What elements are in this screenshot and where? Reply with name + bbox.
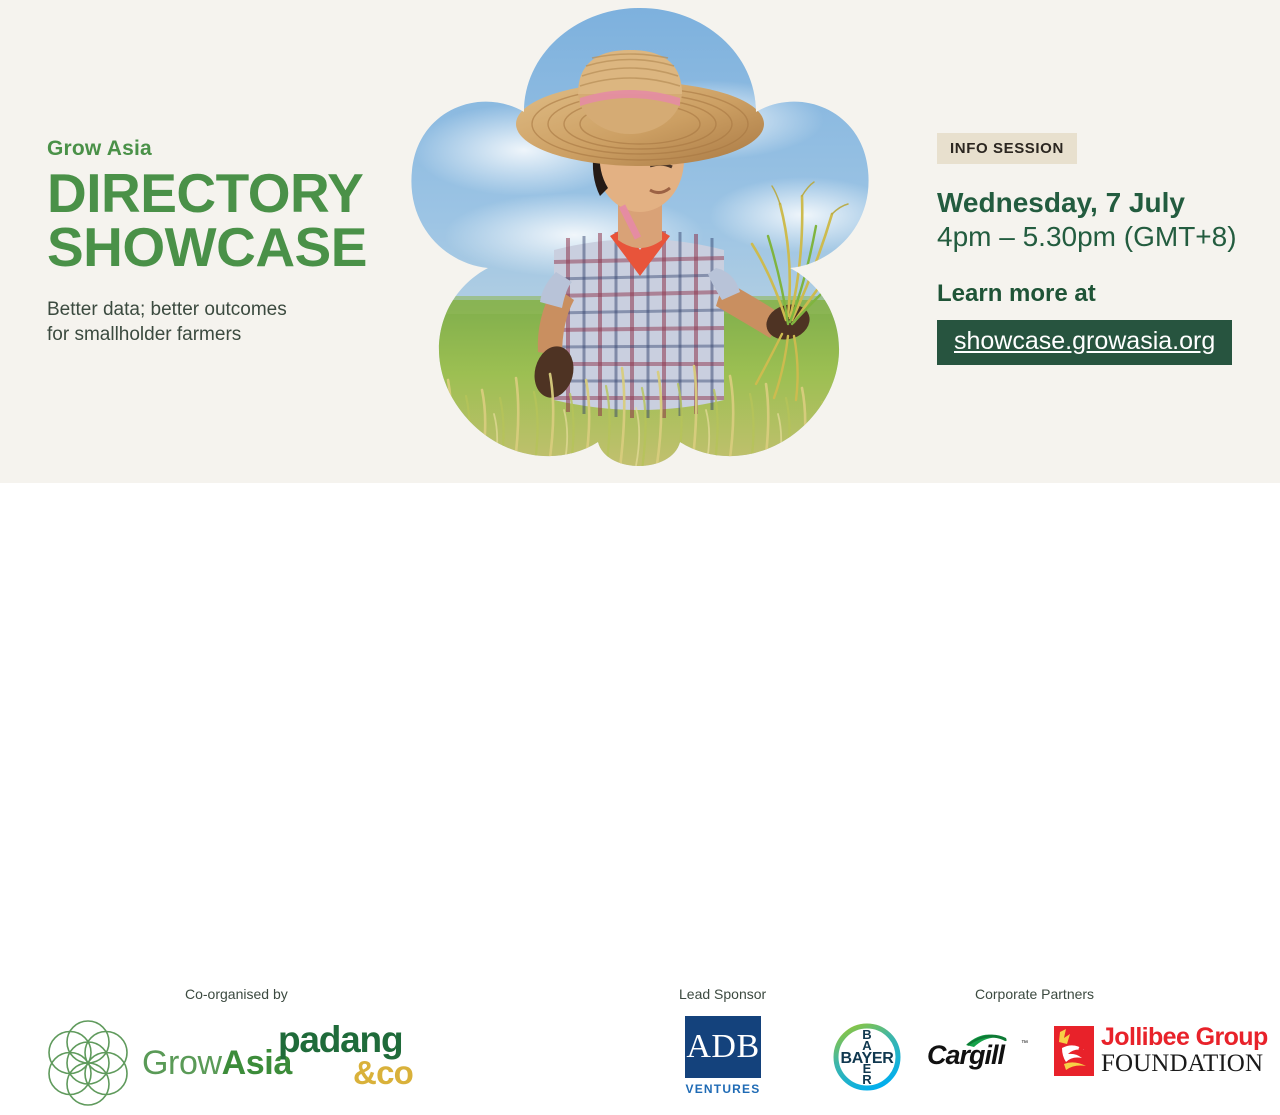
jollibee-group-text: Jollibee Group — [1101, 1025, 1268, 1050]
padang-word: padang — [278, 1023, 413, 1057]
status-badge: INFO SESSION — [937, 133, 1077, 164]
co-organised-label: Co-organised by — [185, 986, 288, 1002]
session-date: Wednesday, 7 July — [937, 186, 1257, 219]
grow-asia-wordmark: GrowAsia — [142, 1044, 292, 1083]
adb-mark-text: ADB — [686, 1030, 759, 1064]
session-time: 4pm – 5.30pm (GMT+8) — [937, 220, 1257, 253]
logo-jollibee-group-foundation[interactable]: Jollibee Group FOUNDATION — [1054, 1025, 1268, 1077]
svg-text:R: R — [862, 1072, 872, 1087]
learn-more-label: Learn more at — [937, 280, 1257, 309]
hero-section: Grow Asia DIRECTORY SHOWCASE Better data… — [0, 0, 1280, 483]
jollibee-wordmark: Jollibee Group FOUNDATION — [1101, 1025, 1268, 1077]
logo-padang-co[interactable]: padang &co — [278, 1023, 413, 1088]
title-line-1: DIRECTORY — [47, 162, 363, 224]
page-title: DIRECTORY SHOWCASE — [47, 167, 407, 275]
headline-block: Grow Asia DIRECTORY SHOWCASE Better data… — [47, 136, 407, 347]
footer-section: Co-organised by Lead Sponsor Corporate P… — [0, 483, 1280, 640]
website-url-button[interactable]: showcase.growasia.org — [937, 320, 1232, 366]
logo-adb-ventures[interactable]: ADB VENTURES — [685, 1016, 761, 1096]
corporate-partners-label: Corporate Partners — [975, 986, 1094, 1002]
logo-cargill[interactable]: Cargill ™ — [926, 1031, 1031, 1071]
title-line-2: SHOWCASE — [47, 221, 407, 275]
session-info-panel: INFO SESSION Wednesday, 7 July 4pm – 5.3… — [937, 133, 1257, 365]
lead-sponsor-label: Lead Sponsor — [679, 986, 766, 1002]
jollibee-foundation-text: FOUNDATION — [1101, 1051, 1268, 1077]
logo-grow-asia[interactable]: GrowAsia — [36, 1011, 292, 1115]
adb-ventures-text: VENTURES — [685, 1082, 761, 1096]
promotional-banner: Grow Asia DIRECTORY SHOWCASE Better data… — [0, 0, 1280, 640]
seed-of-life-circles-icon — [36, 1011, 140, 1115]
subtitle-line-1: Better data; better outcomes — [47, 299, 287, 320]
subtitle-line-2: for smallholder farmers — [47, 324, 241, 345]
svg-text:A: A — [862, 1038, 872, 1053]
jollibee-bee-square-icon — [1054, 1026, 1094, 1076]
padang-andco-word: &co — [278, 1057, 413, 1088]
svg-text:™: ™ — [1021, 1040, 1028, 1047]
farmer-photo-illustration — [404, 0, 876, 483]
logo-bayer[interactable]: BAYER B A E R — [830, 1020, 904, 1094]
brand-eyebrow: Grow Asia — [47, 136, 407, 161]
subtitle: Better data; better outcomes for smallho… — [47, 297, 407, 347]
svg-text:Cargill: Cargill — [927, 1040, 1006, 1070]
bayer-cross-ring-icon: BAYER B A E R — [830, 1020, 904, 1094]
hero-photo — [404, 0, 876, 483]
grow-asia-word-1: Grow — [142, 1044, 222, 1082]
cargill-wordmark: Cargill ™ — [926, 1031, 1031, 1071]
adb-square-mark: ADB — [685, 1016, 761, 1078]
